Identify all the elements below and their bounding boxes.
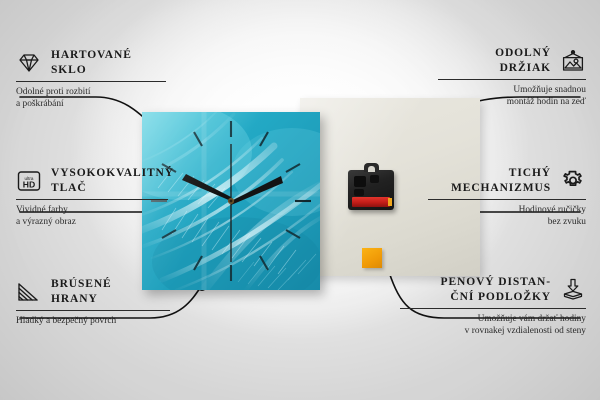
feature-header: TICHÝ MECHANIZMUS [428, 166, 586, 195]
feature-desc-line: bez zvuku [428, 216, 586, 228]
feature-title: PENOVÝ DISTAN- ČNÍ PODLOŽKY [441, 275, 551, 304]
feature-description: Umožňuje snadnou montáž hodin na zeď [438, 84, 586, 109]
feature-desc-line: montáž hodin na zeď [438, 96, 586, 108]
divider [16, 199, 168, 200]
divider [16, 310, 170, 311]
feature-title: HARTOVANÉ SKLO [51, 48, 132, 77]
feature-title-line: PENOVÝ DISTAN- [441, 275, 551, 290]
feature-desc-line: Hladký a bezpečný povrch [16, 315, 170, 327]
feature-polished-edges: BRÚSENÉ HRANY Hladký a bezpečný povrch [16, 277, 170, 327]
feature-desc-line: Umožňuje snadnou [438, 84, 586, 96]
feature-header: ultra HD VYSOKOKVALITNÝ TLAČ [16, 166, 168, 195]
feature-title-line: SKLO [51, 63, 132, 78]
gear-icon [560, 169, 586, 193]
divider [400, 308, 586, 309]
feature-foam-spacers: PENOVÝ DISTAN- ČNÍ PODLOŽKY Umožňuje vám… [400, 275, 586, 338]
feature-title: VYSOKOKVALITNÝ TLAČ [51, 166, 174, 195]
mechanism-knob [354, 176, 366, 187]
feature-desc-line: a poškrábání [16, 98, 166, 110]
feature-description: Vividné farby a výrazný obraz [16, 204, 168, 229]
feature-description: Odolné proti rozbití a poškrábání [16, 86, 166, 111]
feature-title-line: BRÚSENÉ [51, 277, 112, 292]
feature-desc-line: a výrazný obraz [16, 216, 168, 228]
brushed-edge-icon [16, 280, 42, 304]
divider [428, 199, 586, 200]
feature-header: HARTOVANÉ SKLO [16, 48, 166, 77]
feature-title-line: DRŽIAK [495, 61, 551, 76]
feature-title-line: MECHANIZMUS [451, 181, 551, 196]
hanging-frame-icon [560, 49, 586, 73]
divider [16, 81, 166, 82]
feature-desc-line: Umožňuje vám držať hodiny [400, 313, 586, 325]
mechanism-knob-secondary [370, 175, 379, 183]
feature-description: Hladký a bezpečný povrch [16, 315, 170, 327]
battery [352, 197, 390, 207]
ultra-hd-badge-icon: ultra HD [16, 169, 42, 193]
feature-title: TICHÝ MECHANIZMUS [451, 166, 551, 195]
feature-description: Umožňuje vám držať hodiny v rovnakej vzd… [400, 313, 586, 338]
infographic-canvas: HARTOVANÉ SKLO Odolné proti rozbití a po… [0, 0, 600, 400]
feature-desc-line: Odolné proti rozbití [16, 86, 166, 98]
divider [438, 79, 586, 80]
mechanism-knob-tertiary [354, 189, 364, 196]
feature-desc-line: Vividné farby [16, 204, 168, 216]
feature-title-line: TLAČ [51, 181, 174, 196]
feature-silent-mechanism: TICHÝ MECHANIZMUS Hodinové ručičky bez z… [428, 166, 586, 229]
feature-header: ODOLNÝ DRŽIAK [438, 46, 586, 75]
feature-title-line: TICHÝ [451, 166, 551, 181]
feature-title-line: ČNÍ PODLOŽKY [441, 290, 551, 305]
feature-header: BRÚSENÉ HRANY [16, 277, 170, 306]
feature-durable-hanger: ODOLNÝ DRŽIAK Umožňuje snadnou montáž ho… [438, 46, 586, 109]
feature-tempered-glass: HARTOVANÉ SKLO Odolné proti rozbití a po… [16, 48, 166, 111]
feature-description: Hodinové ručičky bez zvuku [428, 204, 586, 229]
foam-pad-arrow-icon [560, 278, 586, 302]
feature-high-quality-print: ultra HD VYSOKOKVALITNÝ TLAČ Vividné far… [16, 166, 168, 229]
feature-desc-line: v rovnakej vzdialenosti od steny [400, 325, 586, 337]
feature-title-line: VYSOKOKVALITNÝ [51, 166, 174, 181]
feature-title: BRÚSENÉ HRANY [51, 277, 112, 306]
svg-text:HD: HD [23, 179, 35, 189]
feature-title-line: HARTOVANÉ [51, 48, 132, 63]
mechanism-hanger [364, 163, 379, 172]
foam-spacer-pad [362, 248, 382, 268]
diamond-icon [16, 51, 42, 75]
feature-title-line: ODOLNÝ [495, 46, 551, 61]
clock-face [142, 112, 320, 290]
clock-face-artwork [142, 112, 320, 290]
feature-title: ODOLNÝ DRŽIAK [495, 46, 551, 75]
clock-mechanism [348, 170, 394, 210]
feature-header: PENOVÝ DISTAN- ČNÍ PODLOŽKY [400, 275, 586, 304]
feature-title-line: HRANY [51, 292, 112, 307]
feature-desc-line: Hodinové ručičky [428, 204, 586, 216]
